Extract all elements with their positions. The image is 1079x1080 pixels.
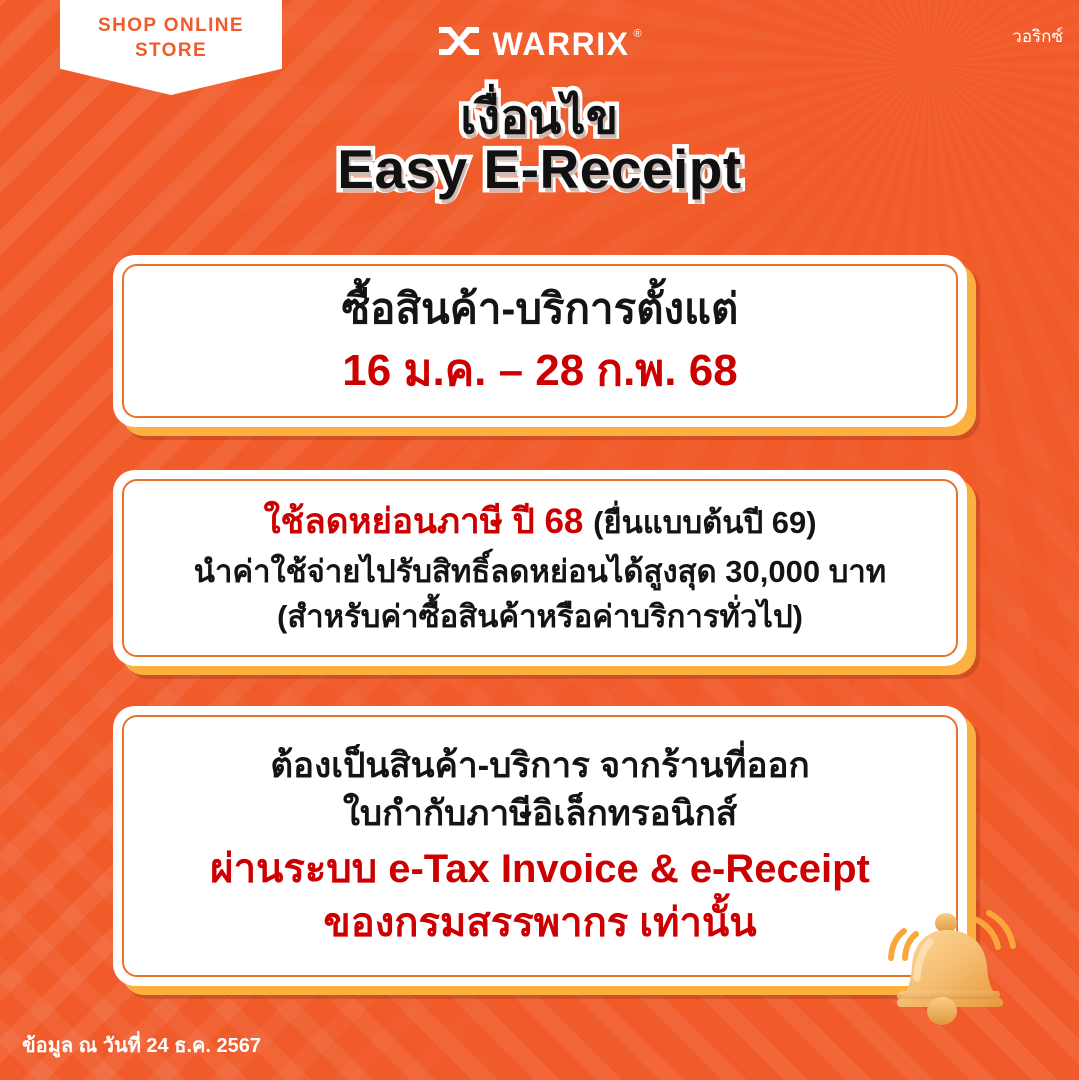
title-line-english: Easy E-Receipt (0, 140, 1079, 198)
tax-deduction-scope-line: (สำหรับค่าซื้อสินค้าหรือค่าบริการทั่วไป) (277, 598, 803, 635)
etax-line-1: ต้องเป็นสินค้า-บริการ จากร้านที่ออก (270, 745, 809, 787)
tax-deduction-amount-line: นำค่าใช้จ่ายไปรับสิทธิ์ลดหย่อนได้สูงสุด … (194, 553, 886, 590)
tax-deduction-year-label: ใช้ลดหย่อนภาษี ปี 68 (263, 502, 583, 541)
data-as-of-note: ข้อมูล ณ วันที่ 24 ธ.ค. 2567 (22, 1034, 261, 1058)
etax-line-2: ใบกำกับภาษีอิเล็กทรอนิกส์ (343, 793, 737, 835)
condition-card-purchase-period: ซื้อสินค้า-บริการตั้งแต่ 16 ม.ค. – 28 ก.… (113, 255, 967, 427)
condition-card-tax-deduction: ใช้ลดหย่อนภาษี ปี 68 (ยื่นแบบต้นปี 69) น… (113, 470, 967, 666)
condition-card-etax-requirement: ต้องเป็นสินค้า-บริการ จากร้านที่ออก ใบกำ… (113, 706, 967, 986)
card-inner-border: ใช้ลดหย่อนภาษี ปี 68 (ยื่นแบบต้นปี 69) น… (122, 479, 958, 657)
purchase-period-dates: 16 ม.ค. – 28 ก.พ. 68 (342, 345, 737, 398)
title-line-thai: เงื่อนไข (0, 92, 1079, 142)
tax-deduction-headline: ใช้ลดหย่อนภาษี ปี 68 (ยื่นแบบต้นปี 69) (263, 501, 816, 543)
warrix-wordmark: WARRIX (492, 28, 629, 60)
card-inner-border: ซื้อสินค้า-บริการตั้งแต่ 16 ม.ค. – 28 ก.… (122, 264, 958, 418)
shop-online-store-line2: STORE (135, 38, 207, 63)
etax-system-line: ผ่านระบบ e-Tax Invoice & e-Receipt (210, 845, 870, 893)
tax-filing-note: (ยื่นแบบต้นปี 69) (593, 505, 816, 540)
page-title: เงื่อนไข Easy E-Receipt (0, 92, 1079, 198)
purchase-period-heading: ซื้อสินค้า-บริการตั้งแต่ (342, 284, 739, 334)
warrix-x-logo-icon (437, 26, 481, 61)
trademark-symbol: ® (633, 29, 641, 40)
etax-authority-line: ของกรมสรรพากร เท่านั้น (323, 899, 756, 947)
shop-online-store-badge: SHOP ONLINE STORE (60, 0, 282, 95)
shop-online-store-line1: SHOP ONLINE (98, 13, 244, 38)
ringing-bell-icon (880, 890, 1070, 1030)
promo-poster: SHOP ONLINE STORE WARRIX ® วอริกซ์ เงื่อ… (0, 0, 1079, 1080)
card-inner-border: ต้องเป็นสินค้า-บริการ จากร้านที่ออก ใบกำ… (122, 715, 958, 977)
warrix-thai-name: วอริกซ์ (1012, 27, 1063, 47)
